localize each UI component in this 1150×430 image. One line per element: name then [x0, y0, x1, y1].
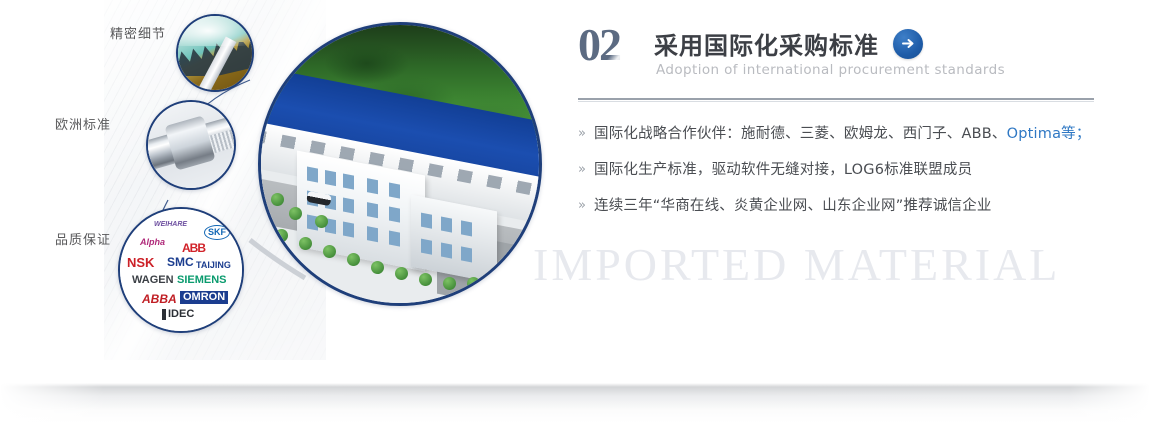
brand-logo-weihare: WEIHARE: [154, 221, 187, 228]
section-number: 02: [578, 22, 620, 68]
page-title: 采用国际化采购标准: [654, 26, 879, 61]
title-row: 采用国际化采购标准: [654, 26, 923, 61]
page-subtitle: Adoption of international procurement st…: [656, 62, 1005, 78]
bullet-marker-icon: »: [578, 160, 594, 180]
content-column: 02 采用国际化采购标准 Adoption of international p…: [578, 24, 1098, 232]
bullet-marker-icon: »: [578, 196, 594, 216]
feature-list: » 国际化战略合作伙伴：施耐德、三菱、欧姆龙、西门子、ABB、Optima等； …: [578, 124, 1098, 216]
list-item-highlight: Optima等；: [1007, 126, 1091, 142]
list-item: » 连续三年“华商在线、炎黄企业网、山东企业网”推荐诚信企业: [578, 196, 1098, 216]
list-item-text: 连续三年“华商在线、炎黄企业网、山东企业网”推荐诚信企业: [594, 196, 992, 216]
list-item: » 国际化战略合作伙伴：施耐德、三菱、欧姆龙、西门子、ABB、Optima等；: [578, 124, 1098, 144]
label-european-standard: 欧洲标准: [55, 114, 111, 133]
brand-logo-smc: SMC: [167, 256, 194, 268]
gear-detail-photo: [176, 14, 254, 92]
brand-logo-taijing: TAIJING: [196, 261, 231, 270]
brand-logo-idec: IDEC: [162, 309, 194, 320]
brand-logo-siemens: SIEMENS: [177, 275, 227, 286]
ball-screw-shaft-photo: [146, 100, 236, 190]
section-header: 02 采用国际化采购标准 Adoption of international p…: [578, 24, 1098, 90]
brand-logo-nsk: NSK: [127, 256, 154, 269]
brand-logo-abba: ABBA: [142, 293, 177, 305]
watermark-text: IMPORTED MATERIAL: [533, 238, 1060, 291]
promo-banner: 精密细节 欧洲标准 品质保证 WEIHARE SKF Alpha ABB NSK…: [0, 0, 1150, 430]
factory-building-photo: [258, 22, 542, 306]
brand-logo-abb: ABB: [182, 242, 205, 254]
arrow-right-circle-icon[interactable]: [893, 29, 923, 59]
label-quality-assurance: 品质保证: [55, 229, 111, 248]
brand-logo-omron: OMRON: [180, 291, 228, 304]
header-divider: [578, 98, 1094, 102]
brand-logo-skf: SKF: [204, 225, 230, 240]
brand-logo-wagen: WAGEN: [132, 275, 174, 286]
list-item: » 国际化生产标准，驱动软件无缝对接，LOG6标准联盟成员: [578, 160, 1098, 180]
brand-logos-photo: WEIHARE SKF Alpha ABB NSK SMC TAIJING WA…: [118, 207, 244, 333]
bottom-shadow-band: [0, 383, 1150, 423]
brand-logo-alpha: Alpha: [140, 238, 165, 247]
bullet-marker-icon: »: [578, 124, 594, 144]
list-item-text: 国际化生产标准，驱动软件无缝对接，LOG6标准联盟成员: [594, 160, 972, 180]
list-item-text-main: 国际化战略合作伙伴：施耐德、三菱、欧姆龙、西门子、ABB、: [594, 126, 1007, 142]
list-item-text: 国际化战略合作伙伴：施耐德、三菱、欧姆龙、西门子、ABB、Optima等；: [594, 124, 1091, 144]
label-precision-detail: 精密细节: [110, 23, 166, 42]
